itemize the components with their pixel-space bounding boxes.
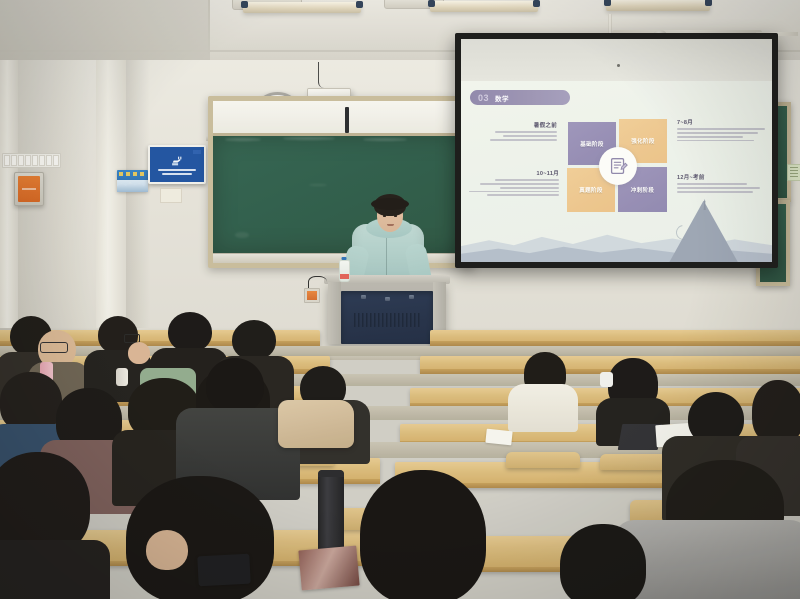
- switch-row[interactable]: [2, 153, 61, 168]
- student-head: [232, 320, 276, 360]
- eyeglasses-icon: [40, 342, 68, 353]
- quadrant-label: 基础阶段: [580, 140, 604, 148]
- face-mask-icon: [600, 372, 613, 387]
- electrical-panel[interactable]: [14, 172, 44, 206]
- ceiling-light-fixture: [606, 0, 710, 11]
- student-hair: [0, 372, 62, 432]
- sign-text-line: [158, 169, 196, 171]
- lecture-hall-photo: 121234567891011: [0, 0, 800, 599]
- projection-surface: 03 数学 基础阶段 强化阶段 真题阶段 冲刺阶段: [461, 39, 772, 262]
- ceiling-light-fixture: [243, 2, 361, 13]
- chalkboard-upper-white-panel: [213, 101, 469, 135]
- thermos-cap: [318, 470, 344, 477]
- chalk-residue: [225, 138, 261, 141]
- chalk-residue: [309, 184, 327, 186]
- student-torso: [0, 540, 110, 599]
- speaker-cable: [318, 62, 331, 88]
- lectern-side-panel: [328, 282, 341, 344]
- sign-text-line: [162, 173, 192, 175]
- student-hair: [360, 470, 486, 599]
- presenter-mouth: [387, 224, 394, 226]
- light-end-cap: [705, 0, 712, 6]
- wall-pillar: [96, 60, 126, 328]
- slide-text-block-1: 暑假之前: [475, 121, 557, 142]
- wall-paper-note: [160, 188, 182, 203]
- screen-blank-band: [461, 39, 772, 81]
- student-hair: [752, 380, 800, 444]
- projection-screen: 03 数学 基础阶段 强化阶段 真题阶段 冲刺阶段: [455, 33, 778, 268]
- screen-marker-dot: [617, 64, 620, 67]
- wall-shading: [126, 60, 150, 328]
- quadrant-label: 强化阶段: [631, 137, 655, 145]
- slide-section-header: 03 数学: [470, 90, 570, 105]
- presenter-hair: [374, 194, 406, 216]
- smartphone[interactable]: [197, 554, 250, 587]
- student-hand: [128, 342, 150, 364]
- text-block-heading: 10~11月: [467, 169, 559, 177]
- text-block-heading: 暑假之前: [475, 121, 557, 129]
- chalk-residue: [363, 138, 407, 141]
- drink-cup[interactable]: [116, 368, 128, 386]
- lectern: [328, 282, 446, 344]
- lectern-fastener: [385, 297, 390, 301]
- lectern-vent-grille: [354, 313, 420, 327]
- hand-plug-icon: [170, 155, 184, 167]
- thermos-bottle[interactable]: [318, 470, 344, 552]
- light-end-cap: [604, 0, 611, 6]
- board-marker: [345, 107, 349, 133]
- bottle-cap: [341, 257, 346, 260]
- seat-back: [506, 452, 580, 468]
- lectern-fastener: [409, 295, 414, 299]
- safety-notice-sign: [148, 145, 206, 184]
- light-end-cap: [428, 0, 435, 7]
- panel-slot: [22, 188, 36, 190]
- bottle-label: [340, 274, 349, 279]
- poster-header-band: [119, 172, 146, 176]
- text-block-heading: 7~8月: [677, 118, 769, 126]
- light-end-cap: [356, 1, 363, 8]
- student-hair: [560, 524, 646, 599]
- student-face: [146, 530, 188, 570]
- slide-section-number: 03: [478, 93, 489, 103]
- wall-outlet-box[interactable]: [304, 288, 320, 303]
- chalk-residue: [235, 232, 249, 238]
- slide-mountain-decoration: [461, 190, 772, 262]
- ceiling-light-fixture: [430, 1, 538, 12]
- notebook-pen-icon: [607, 155, 629, 177]
- ceiling-shadow: [0, 0, 210, 66]
- student-coat: [508, 384, 578, 432]
- lectern-fastener: [361, 295, 366, 299]
- student-desk: [430, 330, 800, 346]
- front-wall: 121234567891011: [0, 60, 800, 360]
- text-block-heading: 12月~考前: [677, 173, 767, 181]
- wall-poster: [117, 170, 148, 192]
- presentation-slide: 03 数学 基础阶段 强化阶段 真题阶段 冲刺阶段: [461, 81, 772, 262]
- ceiling-seam-vertical: [208, 0, 210, 56]
- green-chalkboard: [208, 96, 474, 268]
- chalkboard-writing-surface: [213, 136, 469, 253]
- light-end-cap: [533, 0, 540, 7]
- chalk-residue: [283, 137, 335, 140]
- textbook[interactable]: [298, 546, 359, 591]
- green-notice-card: [787, 164, 800, 181]
- tote-bag: [278, 400, 354, 448]
- student-head: [206, 358, 264, 414]
- outlet-face: [307, 291, 317, 300]
- slide-text-block-2: 7~8月: [677, 118, 769, 143]
- student-head: [168, 312, 212, 352]
- lectern-front-panel[interactable]: [341, 291, 433, 344]
- slide-section-title: 数学: [495, 93, 509, 103]
- light-end-cap: [241, 1, 248, 8]
- poster-mountain-graphic: [117, 180, 148, 192]
- sign-corner-mark: [193, 150, 201, 154]
- water-bottle[interactable]: [339, 260, 350, 282]
- papers: [485, 429, 512, 446]
- panel-face: [18, 176, 40, 202]
